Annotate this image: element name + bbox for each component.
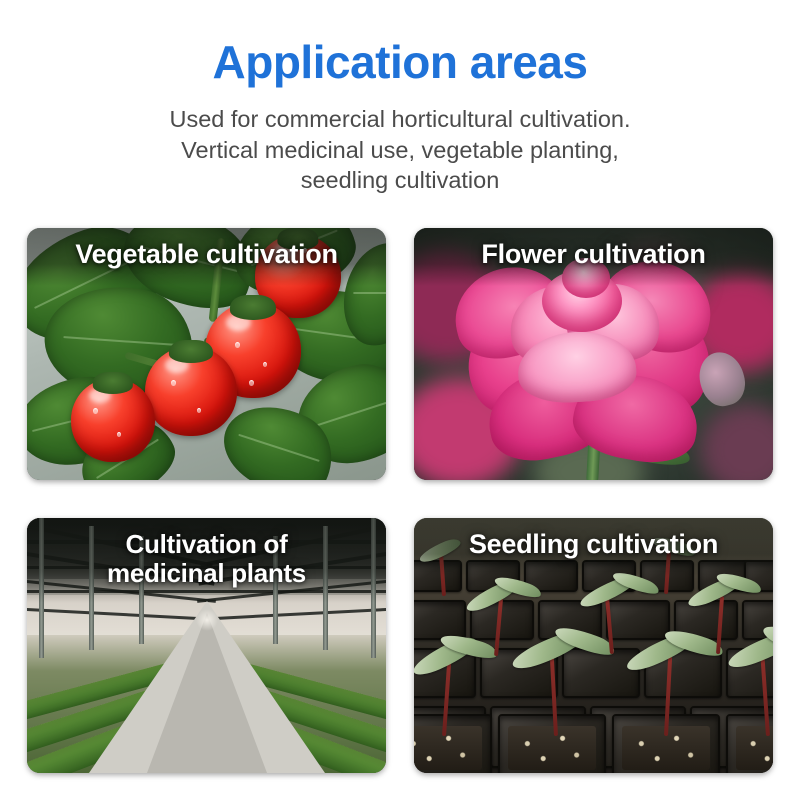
card-medicinal-plants[interactable]: Cultivation of medicinal plants — [27, 518, 386, 773]
card-label-medicinal-plants: Cultivation of medicinal plants — [27, 518, 386, 603]
application-card-grid: Vegetable cultivation — [27, 228, 773, 773]
card-label-line: Seedling cultivation — [428, 530, 759, 560]
subtitle-line-2: Vertical medicinal use, vegetable planti… — [0, 135, 800, 166]
page-subtitle: Used for commercial horticultural cultiv… — [0, 104, 800, 196]
card-label-seedling-cultivation: Seedling cultivation — [414, 518, 773, 576]
application-areas-page: Application areas Used for commercial ho… — [0, 0, 800, 800]
card-label-line: medicinal plants — [41, 559, 372, 588]
card-label-line: Flower cultivation — [428, 240, 759, 270]
card-seedling-cultivation[interactable]: Seedling cultivation — [414, 518, 773, 773]
subtitle-line-1: Used for commercial horticultural cultiv… — [0, 104, 800, 135]
header: Application areas Used for commercial ho… — [0, 0, 800, 196]
card-label-flower-cultivation: Flower cultivation — [414, 228, 773, 286]
card-label-line: Cultivation of — [41, 530, 372, 559]
card-flower-cultivation[interactable]: Flower cultivation — [414, 228, 773, 480]
subtitle-line-3: seedling cultivation — [0, 165, 800, 196]
page-title: Application areas — [0, 38, 800, 86]
card-label-vegetable-cultivation: Vegetable cultivation — [27, 228, 386, 286]
card-vegetable-cultivation[interactable]: Vegetable cultivation — [27, 228, 386, 480]
card-label-line: Vegetable cultivation — [41, 240, 372, 270]
